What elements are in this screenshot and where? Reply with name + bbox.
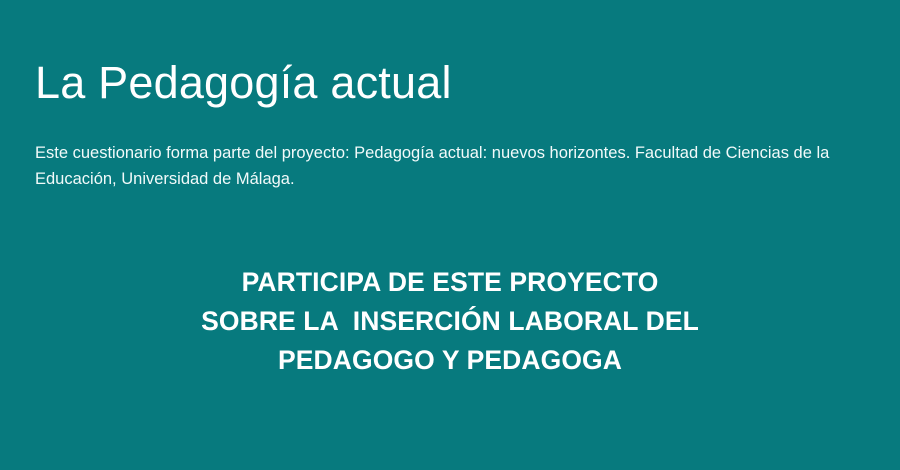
banner-subtitle: Este cuestionario forma parte del proyec… [35, 109, 883, 192]
cta-line-1: PARTICIPA DE ESTE PROYECTO [0, 263, 900, 302]
header-block: La Pedagogía actual Este cuestionario fo… [35, 56, 885, 192]
call-to-action-block: PARTICIPA DE ESTE PROYECTO SOBRE LA INSE… [0, 263, 900, 380]
cta-line-3: PEDAGOGO Y PEDAGOGA [0, 341, 900, 380]
lower-empty-band [0, 379, 900, 470]
survey-banner: La Pedagogía actual Este cuestionario fo… [0, 0, 900, 470]
cta-line-2: SOBRE LA INSERCIÓN LABORAL DEL [0, 302, 900, 341]
page-title: La Pedagogía actual [35, 56, 885, 109]
